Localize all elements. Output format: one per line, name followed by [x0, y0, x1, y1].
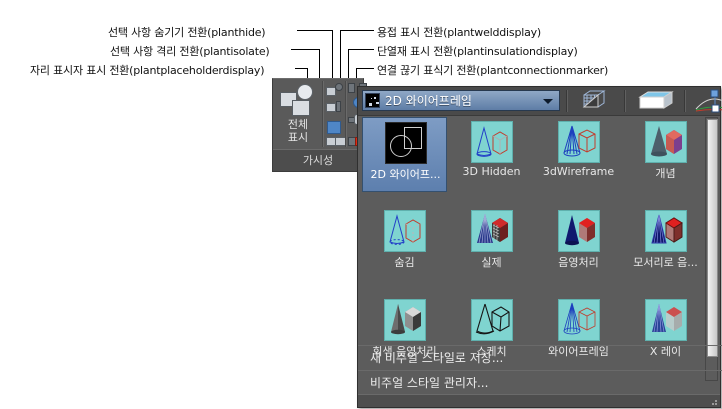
thumb-svg	[559, 300, 599, 340]
panel-separator-2	[345, 81, 347, 147]
thumbnail-3dwireframe	[558, 121, 600, 163]
plantisolate-button[interactable]	[326, 101, 342, 116]
visual-style-item-realistic[interactable]: 실제	[449, 206, 534, 281]
flyout-menu: 새 비주얼 스타일로 저장... 비주얼 스타일 관리자...	[358, 345, 722, 395]
show-all-label: 전체 표시	[276, 118, 320, 144]
ucs-axis-icon[interactable]	[690, 89, 722, 113]
menu-item-save-as-new-visual-style[interactable]: 새 비주얼 스타일로 저장...	[358, 345, 722, 370]
thumb-svg	[472, 122, 512, 162]
visual-style-label: 개념	[623, 165, 708, 181]
visual-style-item-3d-hidden[interactable]: 3D Hidden	[449, 117, 534, 192]
visual-style-preview-icon	[365, 93, 380, 108]
ucs-axis-svg	[690, 89, 722, 113]
header-separator-1	[566, 90, 568, 112]
visual-styles-grid: 2D 와이어프... 3D Hidden	[358, 115, 708, 383]
thumbnail-hidden	[384, 210, 426, 252]
visual-style-label: 숨김	[362, 254, 447, 270]
show-all-icon	[280, 83, 318, 119]
visual-style-combobox-value: 2D 와이어프레임	[385, 93, 472, 109]
visual-style-item-shaded-with-edges[interactable]: 모서리로 음...	[623, 206, 708, 281]
thumbnail-shaded	[558, 210, 600, 252]
visual-style-label: 모서리로 음...	[623, 254, 708, 270]
thumb-svg	[472, 211, 512, 251]
flyout-scrollbar[interactable]	[705, 117, 718, 381]
thumb-svg	[559, 122, 599, 162]
thumb-svg	[559, 211, 599, 251]
planthide-button[interactable]	[326, 83, 342, 98]
callout-plantinsulationdisplay: 단열재 표시 전환(plantinsulationdisplay)	[377, 43, 578, 59]
menu-item-visual-styles-manager[interactable]: 비주얼 스타일 관리자...	[358, 370, 722, 395]
shaded-box-svg	[630, 89, 682, 113]
visual-style-label: 2D 와이어프...	[363, 166, 448, 182]
3d-wireframe-box-icon[interactable]	[570, 89, 622, 113]
thumbnail-conceptual	[645, 121, 687, 163]
panel-separator-1	[322, 81, 324, 147]
thumb-svg	[646, 211, 686, 251]
resize-grip-icon[interactable]	[709, 397, 717, 405]
visual-style-item-conceptual[interactable]: 개념	[623, 117, 708, 192]
callout-plantplaceholderdisplay: 자리 표시자 표시 전환(plantplaceholderdisplay)	[30, 62, 264, 78]
visual-style-item-3dwireframe[interactable]: 3dWireframe	[536, 117, 621, 192]
visual-styles-header: 2D 와이어프레임	[358, 87, 720, 116]
visibility-panel-title: 가시성	[273, 149, 363, 171]
visibility-ribbon-panel: 전체 표시	[272, 78, 364, 172]
thumbnail-x-ray	[645, 299, 687, 341]
chevron-down-icon[interactable]	[543, 99, 553, 104]
thumb-svg	[646, 300, 686, 340]
thumbnail-wireframe	[558, 299, 600, 341]
visual-style-item-2d-wireframe[interactable]: 2D 와이어프...	[362, 117, 447, 192]
plantplaceholderdisplay-button[interactable]	[326, 119, 342, 134]
thumb-svg	[472, 300, 512, 340]
visual-style-combobox[interactable]: 2D 와이어프레임	[362, 90, 560, 111]
visual-style-label: 음영처리	[536, 254, 621, 270]
callout-planthide: 선택 사항 숨기기 전환(planthide)	[108, 24, 265, 40]
shaded-box-icon[interactable]	[630, 89, 682, 113]
thumbnail-3d-hidden	[471, 121, 513, 163]
visual-style-label: 3D Hidden	[449, 165, 534, 178]
thumbnail-shades-of-gray	[384, 299, 426, 341]
thumb-svg	[385, 300, 425, 340]
thumbnail-shaded-with-edges	[645, 210, 687, 252]
callout-plantconnectionmarker: 연결 끊기 표식기 전환(plantconnectionmarker)	[377, 62, 608, 78]
thumb-svg	[385, 211, 425, 251]
visual-style-label: 3dWireframe	[536, 165, 621, 178]
show-all-button[interactable]: 전체 표시	[276, 82, 320, 148]
visual-styles-flyout: 2D 와이어프레임	[357, 86, 721, 408]
thumb-svg	[646, 122, 686, 162]
thumbnail-sketchy	[471, 299, 513, 341]
visibility-panel-body: 전체 표시	[273, 79, 363, 151]
3d-wireframe-box-svg	[570, 89, 622, 113]
header-separator-3	[684, 90, 686, 112]
header-separator-2	[624, 90, 626, 112]
callout-plantwelddisplay: 용접 표시 전환(plantwelddisplay)	[377, 24, 541, 40]
visual-style-item-hidden[interactable]: 숨김	[362, 206, 447, 281]
flyout-footer	[358, 394, 720, 407]
visual-style-item-shaded[interactable]: 음영처리	[536, 206, 621, 281]
visual-style-label: 실제	[449, 254, 534, 270]
thumbnail-realistic	[471, 210, 513, 252]
callout-plantisolate: 선택 사항 격리 전환(plantisolate)	[110, 43, 270, 59]
scrollbar-thumb[interactable]	[707, 119, 718, 357]
thumbnail-2d-wireframe	[385, 122, 427, 164]
visibility-toggle-a[interactable]	[326, 135, 346, 146]
